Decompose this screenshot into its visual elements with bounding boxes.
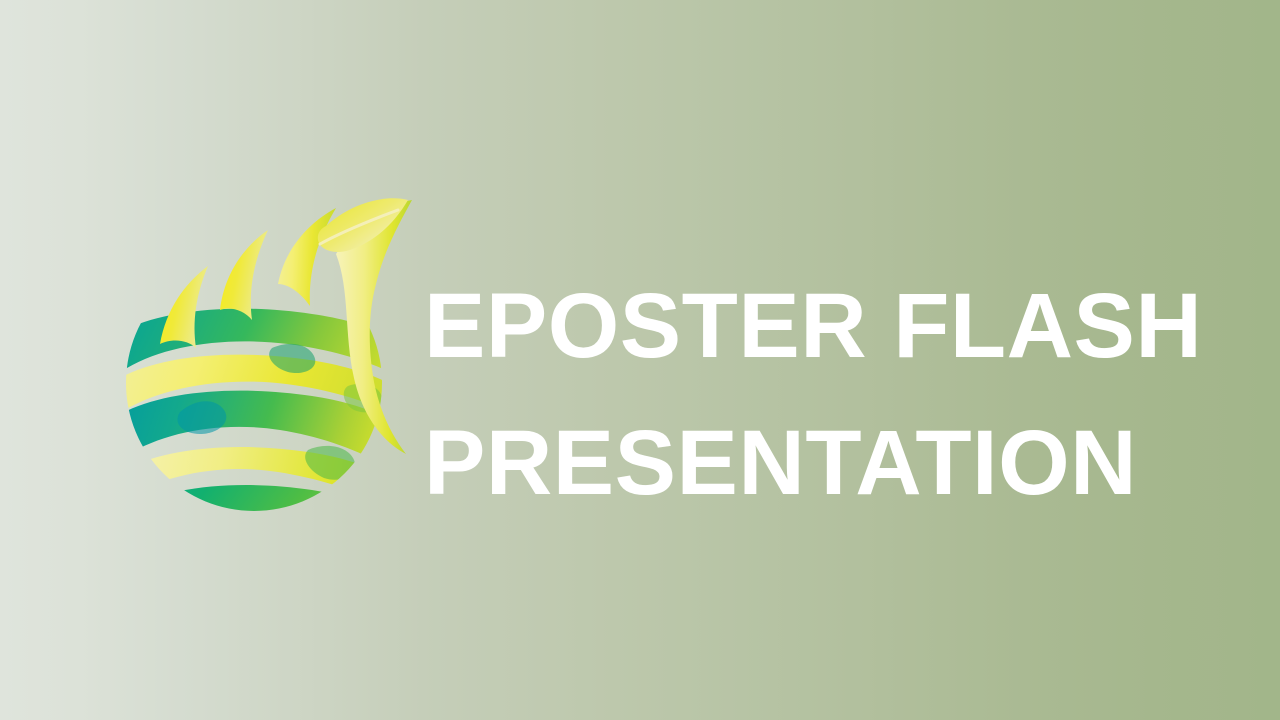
presentation-slide: EPOSTER FLASH PRESENTATION [0,0,1280,720]
slide-title: EPOSTER FLASH PRESENTATION [424,258,1224,532]
slide-title-line-2: PRESENTATION [424,395,1224,532]
slide-title-line-1: EPOSTER FLASH [424,258,1224,395]
globe-ribbon-logo [112,198,412,518]
